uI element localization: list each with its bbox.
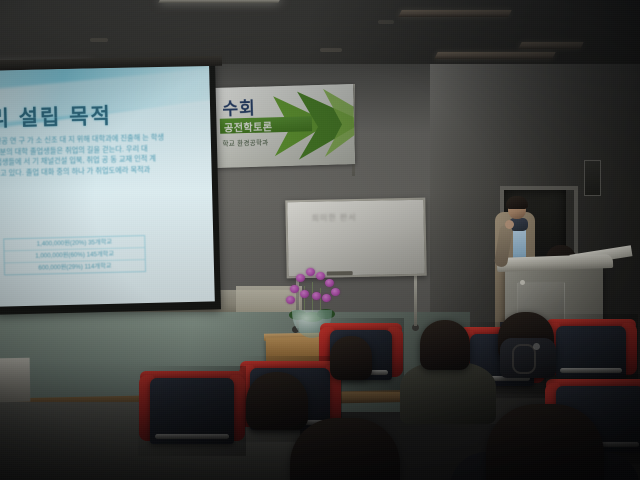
- slide-title: 아리 설립 목적: [0, 97, 209, 133]
- orchid-bloom: [290, 285, 299, 293]
- audience-head: [246, 372, 308, 430]
- auditorium-seat: [150, 378, 234, 444]
- backpack-logo-icon: [533, 343, 540, 350]
- orchid-bloom: [312, 292, 321, 300]
- wall-speaker-icon: [584, 160, 601, 196]
- banner-shading: [213, 84, 355, 168]
- seat-chrome-trim: [560, 368, 622, 373]
- auditorium-seat: [556, 326, 626, 378]
- ceiling-shadow: [310, 0, 640, 72]
- orchid-bloom: [316, 272, 325, 280]
- projected-slide: 아리 설립 목적 앞에 고 전공 연 구 가 소 신조 대 지 위해 대학과에 …: [0, 65, 215, 306]
- whiteboard-leg: [414, 270, 417, 326]
- orchid-bloom: [331, 288, 340, 296]
- small-white-table: [0, 358, 30, 403]
- slide-body-text: 앞에 고 전공 연 구 가 소 신조 대 지 위해 대학과에 진출해 는 학생 …: [0, 131, 215, 179]
- ceiling-vent: [90, 38, 108, 42]
- slide-table-row: 600,000원(29%) 114개학교: [5, 260, 145, 274]
- audience-head-front: [290, 418, 400, 480]
- green-banner: 수회 공전학토론 학교 환경공학과: [213, 84, 355, 168]
- orchid-bloom: [286, 296, 295, 304]
- backpack-strap: [512, 344, 536, 374]
- orchid-bloom: [306, 268, 315, 276]
- projection-screen: 아리 설립 목적 앞에 고 전공 연 구 가 소 신조 대 지 위해 대학과에 …: [0, 61, 221, 314]
- orchid-bloom: [322, 294, 331, 302]
- lectern-microphone-knob: [520, 280, 525, 285]
- audience-head: [420, 320, 470, 370]
- audience-head-front: [486, 404, 604, 480]
- orchid-bloom: [296, 274, 305, 282]
- ceiling-lamp: [158, 0, 281, 3]
- whiteboard: 희미한 판서: [285, 198, 426, 279]
- seat-chrome-trim: [155, 434, 229, 439]
- presenter-hair: [506, 196, 528, 209]
- photograph-auditorium-presentation: 아리 설립 목적 앞에 고 전공 연 구 가 소 신조 대 지 위해 대학과에 …: [0, 0, 640, 480]
- audience-shoulders: [400, 362, 496, 424]
- orchid-bloom: [300, 290, 309, 298]
- slide-table: 1,400,000원(20%) 35개학교 1,000,000원(60%) 14…: [3, 235, 146, 275]
- presenter-hand: [505, 220, 514, 229]
- whiteboard-shading: [285, 198, 426, 279]
- audience-head: [330, 336, 372, 380]
- orchid-bloom: [325, 279, 334, 287]
